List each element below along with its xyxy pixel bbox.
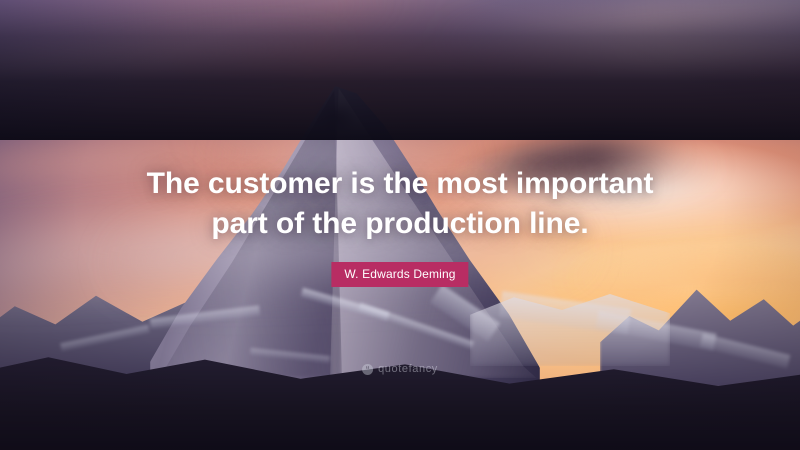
quote-poster: The customer is the most important part …	[0, 0, 800, 450]
watermark: “ quotefancy	[362, 364, 438, 375]
quote-author-badge: W. Edwards Deming	[331, 262, 468, 287]
quote-mark-badge-icon: “	[362, 364, 373, 375]
quote-text: The customer is the most important part …	[0, 164, 800, 244]
watermark-brand-label: quotefancy	[378, 364, 438, 375]
